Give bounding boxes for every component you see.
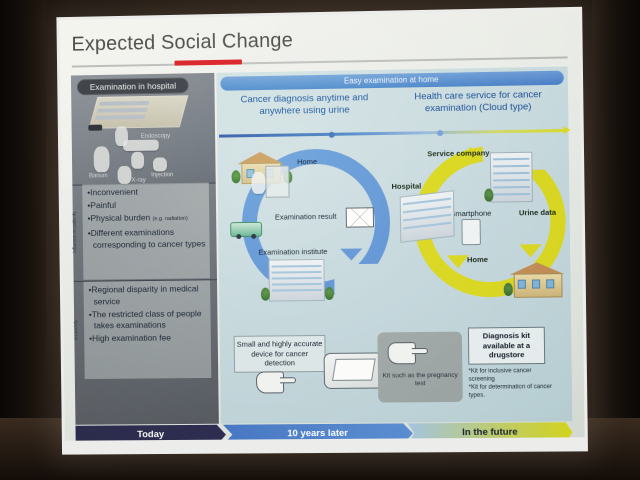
yellow-cycle-arrowhead-right bbox=[519, 244, 541, 257]
hospital-building-icon bbox=[89, 95, 189, 129]
label-home-yellow: Home bbox=[467, 255, 488, 264]
examination-institute-building bbox=[268, 259, 324, 302]
nurse-figure-injection bbox=[153, 157, 167, 171]
callout-accurate-device: Small and highly accurate device for can… bbox=[234, 335, 326, 372]
bullet-list-society: Regional disparity in medical service Th… bbox=[83, 280, 210, 349]
service-company-building bbox=[490, 152, 533, 203]
list-item: Regional disparity in medical service bbox=[87, 283, 206, 307]
urine-sample-sheet bbox=[265, 165, 289, 197]
window-icon bbox=[532, 279, 540, 288]
title-accent-bar bbox=[174, 59, 242, 65]
timeline-segment-today: Today bbox=[75, 425, 226, 441]
label-smartphone: Smartphone bbox=[450, 209, 491, 219]
tree-icon bbox=[504, 283, 513, 296]
pointing-hand-icon-left bbox=[256, 371, 284, 393]
patient-figure-xray bbox=[117, 166, 131, 184]
blue-cycle-arrowhead bbox=[340, 248, 362, 260]
tree-icon bbox=[261, 288, 270, 301]
home-illustration-yellow bbox=[509, 262, 564, 297]
list-item: Physical burden (e.g. radiation) bbox=[87, 212, 206, 227]
bullet-group-patients: Inconvenient Painful Physical burden (e.… bbox=[82, 183, 210, 280]
timeline-segment-10-years: 10 years later bbox=[223, 423, 413, 440]
slide-canvas: Expected Social Change Endoscopy Barium … bbox=[59, 10, 584, 441]
tree-icon bbox=[325, 287, 334, 300]
easy-examination-banner: Easy examination at home bbox=[220, 71, 564, 91]
list-item: Inconvenient bbox=[86, 186, 205, 199]
bed-figure-endoscopy bbox=[123, 140, 159, 152]
cancer-detection-device bbox=[324, 352, 385, 389]
bullet-group-society: Regional disparity in medical service Th… bbox=[83, 280, 211, 379]
list-item: High examination fee bbox=[88, 332, 207, 345]
right-panel-home: Easy examination at home Cancer diagnosi… bbox=[216, 67, 572, 424]
timeline-segment-future: In the future bbox=[408, 422, 573, 441]
label-service-company: Service company bbox=[427, 148, 489, 158]
column-header-cloud-service: Health care service for cancer examinati… bbox=[392, 89, 564, 116]
pregnancy-kit-note: Kit such as the pregnancy test bbox=[380, 372, 461, 389]
label-urine-data: Urine data bbox=[519, 208, 556, 218]
list-item: The restricted class of people takes exa… bbox=[88, 308, 207, 332]
patient-figure-injection bbox=[131, 152, 144, 169]
label-examination-result: Examination result bbox=[275, 212, 337, 222]
patient-figure-barium bbox=[94, 146, 110, 172]
label-barium: Barium bbox=[89, 173, 108, 179]
bullet-list-patients: Inconvenient Painful Physical burden (e.… bbox=[82, 183, 209, 256]
examination-in-hospital-pill: Examination in hospital bbox=[77, 77, 189, 95]
tree-icon bbox=[231, 170, 240, 183]
person-figure-home bbox=[251, 172, 265, 194]
projection-screen: Expected Social Change Endoscopy Barium … bbox=[56, 7, 588, 455]
left-panel-hospital: Endoscopy Barium Injection X-ray Examina… bbox=[71, 73, 219, 425]
axis-node-1 bbox=[329, 131, 335, 137]
page-title: Expected Social Change bbox=[71, 30, 293, 57]
room-wall-left bbox=[0, 0, 46, 480]
pointing-hand-icon-right bbox=[388, 342, 416, 364]
window-icon bbox=[518, 280, 526, 289]
list-item: Painful bbox=[86, 199, 205, 212]
yellow-cycle-arrowhead-bottom bbox=[447, 255, 469, 268]
label-endoscopy: Endoscopy bbox=[141, 133, 170, 139]
window-icon bbox=[546, 279, 554, 288]
timeline-axis-arrow bbox=[219, 129, 564, 138]
column-header-urine-diagnosis: Cancer diagnosis anytime and anywhere us… bbox=[221, 92, 389, 119]
room-wall-right bbox=[592, 0, 640, 480]
ambulance-icon bbox=[88, 125, 102, 131]
label-home-blue: Home bbox=[297, 157, 317, 166]
diagnosis-kit-box: Diagnosis kit available at a drugstore bbox=[468, 327, 545, 364]
diagnosis-kit-notes: *Kit for inclusive cancer screening *Kit… bbox=[468, 367, 555, 400]
tree-icon bbox=[484, 189, 493, 202]
hospital-building bbox=[400, 190, 455, 243]
title-divider bbox=[72, 56, 568, 67]
delivery-truck-icon bbox=[230, 222, 262, 237]
label-injection: Injection bbox=[151, 172, 173, 178]
list-item: Different examinations corresponding to … bbox=[87, 227, 206, 251]
label-hospital: Hospital bbox=[391, 182, 421, 191]
axis-node-2 bbox=[437, 129, 443, 135]
smartphone-icon bbox=[461, 219, 481, 245]
label-examination-institute: Examination institute bbox=[258, 247, 327, 257]
pregnancy-kit-note-box bbox=[377, 332, 462, 403]
examination-result-envelope bbox=[346, 207, 374, 227]
